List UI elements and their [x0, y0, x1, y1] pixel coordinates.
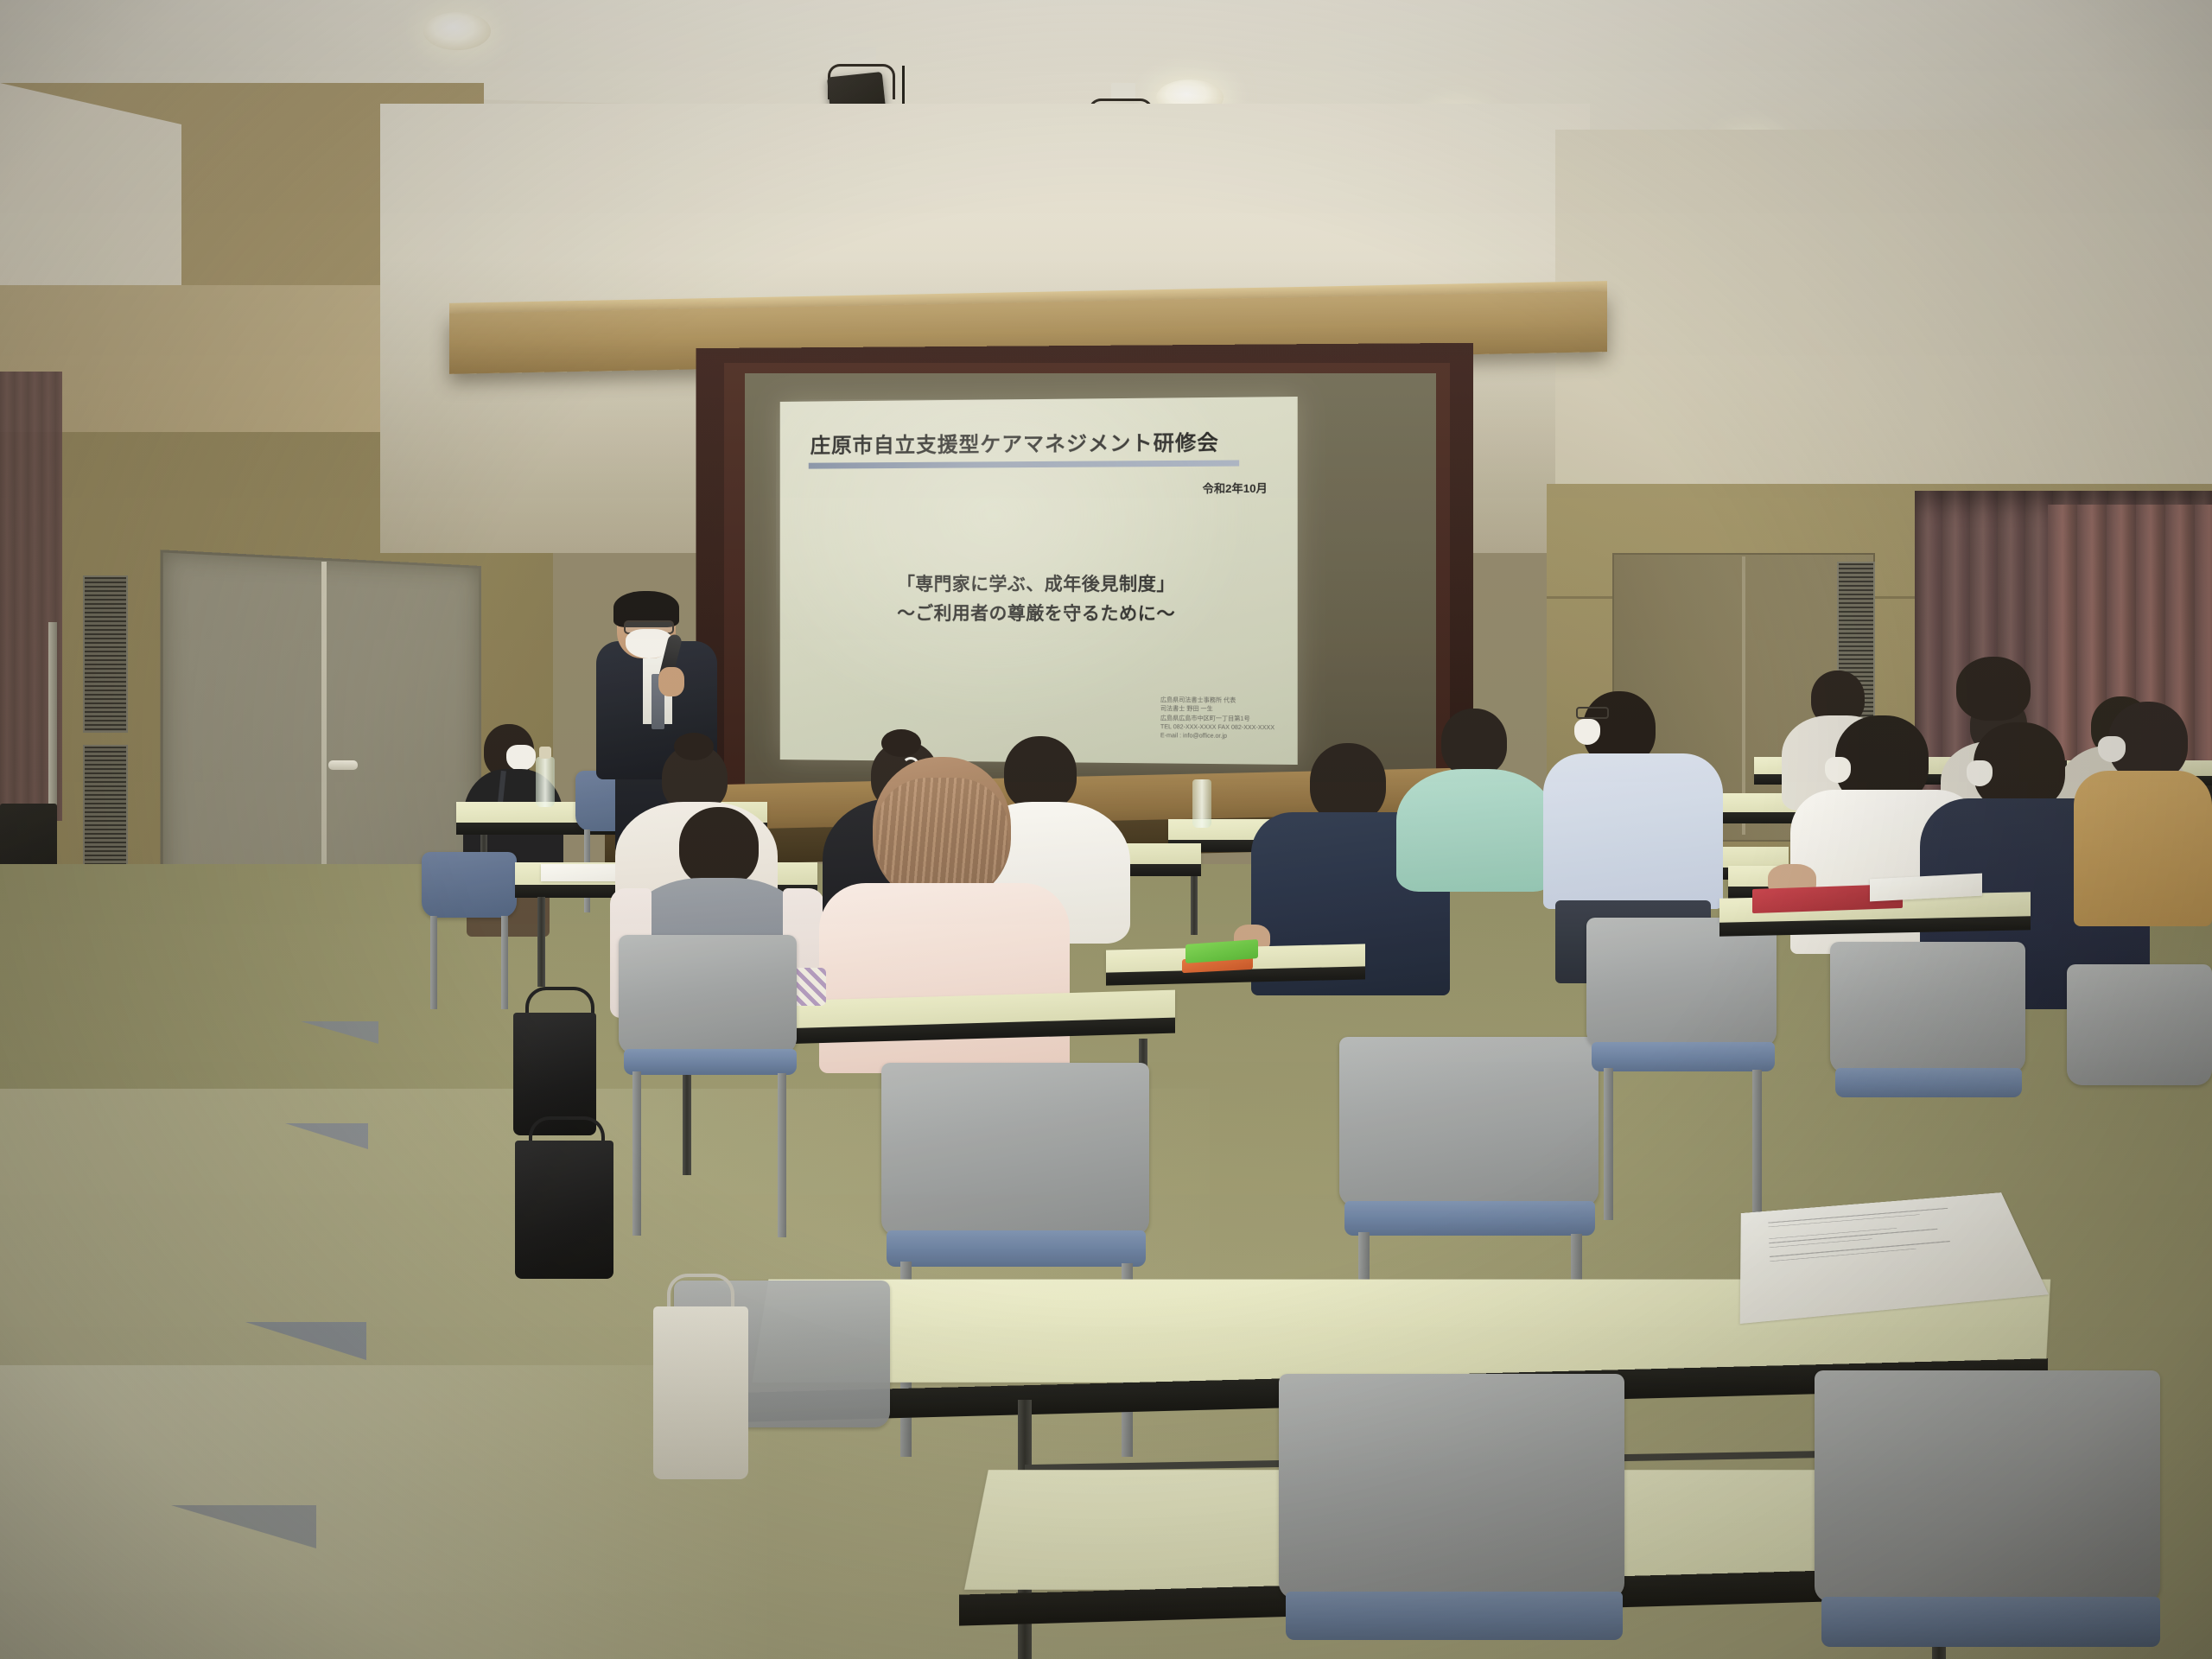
slide-subtitle-line1: 「専門家に学ぶ、成年後見制度」: [780, 570, 1298, 596]
chair-back: [881, 1063, 1149, 1236]
face-mask: [1967, 760, 1993, 786]
chair-leg: [501, 916, 508, 1009]
chair-back: [1815, 1370, 2160, 1602]
presenter-hand: [658, 667, 684, 696]
chair-seat: [887, 1230, 1146, 1267]
chair-leg: [632, 1071, 641, 1236]
sanitizer-pump: [539, 747, 551, 759]
attendee-head: [1956, 657, 2031, 721]
chair-leg: [1752, 1070, 1762, 1222]
chair-seat: [1821, 1597, 2160, 1647]
attendee-body: [1396, 769, 1555, 892]
slide-title-rule: [809, 460, 1239, 468]
slide-credit-line: 司法書士 野田 一生: [1160, 705, 1274, 715]
face-mask: [2098, 736, 2126, 762]
attendee-head: [1310, 743, 1386, 823]
slide-credit-line: E-mail : info@office.or.jp: [1160, 732, 1274, 741]
slide-subtitle-line2: 〜ご利用者の尊厳を守るために〜: [780, 600, 1298, 626]
chair-seat: [1835, 1068, 2022, 1097]
wall-vent: [83, 575, 128, 733]
chair-back: [1830, 942, 2025, 1073]
face-mask: [1574, 719, 1600, 745]
carpet-triangle-accent: [285, 1123, 368, 1149]
chair-leg: [430, 916, 437, 1009]
attendee-hair-strands: [876, 778, 1007, 899]
chair-seat: [624, 1049, 797, 1075]
chair-back: [1279, 1374, 1624, 1599]
floor-bag-white: [653, 1306, 748, 1479]
water-bottle: [1192, 779, 1211, 828]
spotlight-clamp: [1111, 83, 1135, 100]
sanitizer-bottle: [536, 757, 555, 807]
chair-leg: [778, 1073, 786, 1237]
attendee-head: [679, 807, 759, 887]
face-mask: [506, 745, 536, 771]
slide-date: 令和2年10月: [1203, 480, 1268, 497]
seminar-room-photo: 庄原市自立支援型ケアマネジメント研修会 令和2年10月 「専門家に学ぶ、成年後見…: [0, 0, 2212, 1659]
chair-back: [1586, 918, 1777, 1047]
slide-credit-line: 広島県広島市中区町一丁目第1号: [1160, 715, 1274, 724]
glasses-icon: [1576, 707, 1609, 719]
projection-screen: 庄原市自立支援型ケアマネジメント研修会 令和2年10月 「専門家に学ぶ、成年後見…: [780, 397, 1298, 765]
attendee-body: [819, 883, 1070, 1073]
attendee-head: [1004, 736, 1077, 810]
face-mask: [1825, 757, 1851, 783]
attendee-body: [2074, 771, 2212, 926]
table-leg: [537, 897, 545, 987]
chair-seat: [1286, 1592, 1623, 1640]
slide-title: 庄原市自立支援型ケアマネジメント研修会: [810, 425, 1278, 459]
carpet-triangle-accent: [301, 1021, 378, 1044]
chair-leg: [1604, 1068, 1613, 1220]
carpet-triangle-accent: [171, 1505, 316, 1548]
slide-credit-block: 広島県司法書士事務所 代表 司法書士 野田 一生 広島県広島市中区町一丁目第1号…: [1160, 696, 1274, 741]
attendee-head: [1441, 709, 1507, 776]
chair-seat: [1344, 1201, 1595, 1236]
chair-back: [1339, 1037, 1599, 1206]
hair-bun: [881, 729, 921, 757]
chair-seat: [1592, 1042, 1775, 1071]
door-handle-icon[interactable]: [328, 760, 358, 770]
chair-back: [2067, 964, 2212, 1085]
hair-bun: [674, 733, 714, 760]
carpet-triangle-accent: [245, 1322, 366, 1360]
chair-back: [619, 935, 797, 1054]
attendee-body: [1543, 753, 1723, 909]
floor-bag: [515, 1141, 613, 1279]
spotlight-clamp: [850, 47, 876, 66]
ceiling-downlight: [423, 12, 491, 50]
chair-back: [422, 852, 517, 918]
